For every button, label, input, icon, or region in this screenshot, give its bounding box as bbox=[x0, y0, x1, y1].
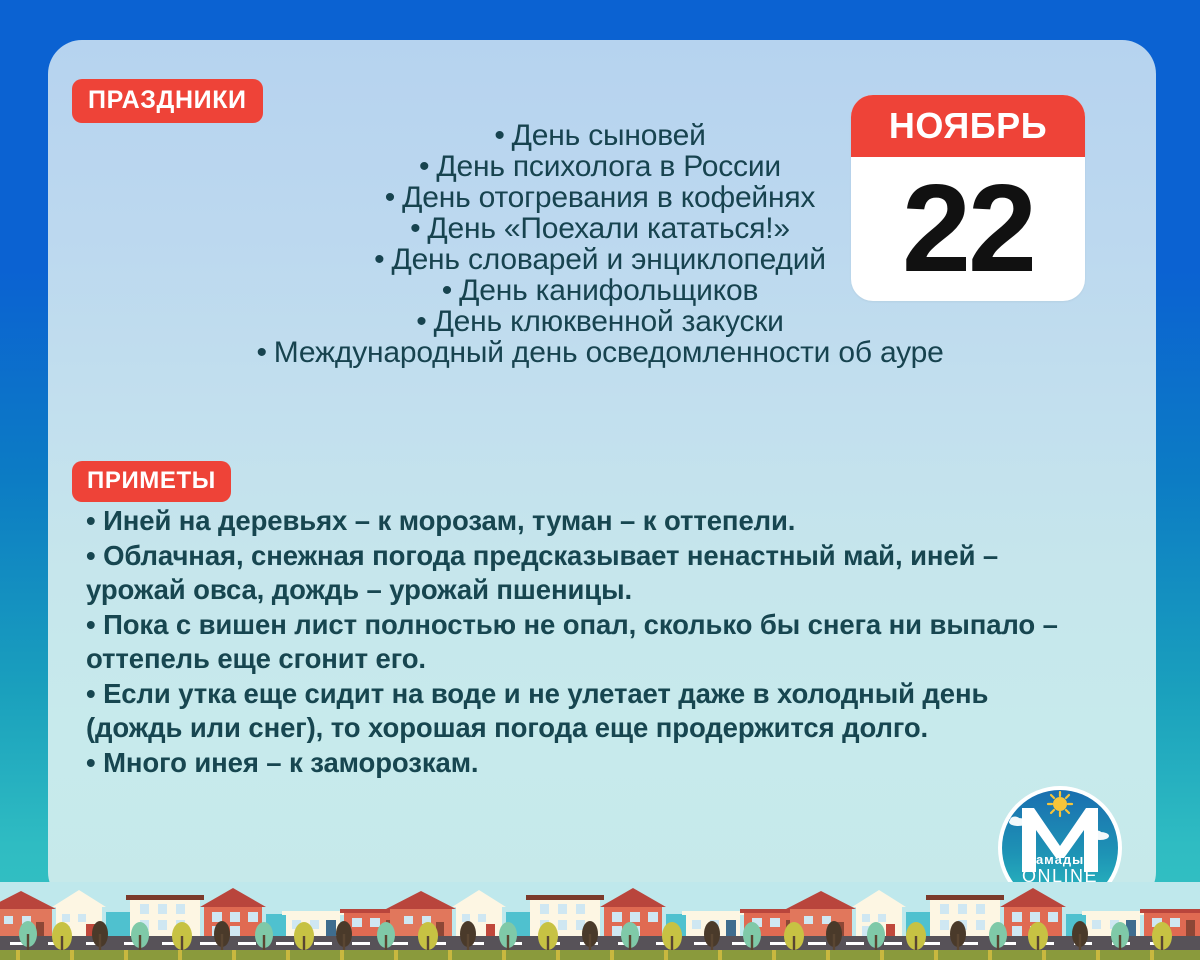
list-item: • Иней на деревьях – к морозам, туман – … bbox=[86, 504, 1078, 539]
bullet-icon: • bbox=[494, 120, 504, 151]
bullet-icon: • bbox=[419, 151, 429, 182]
omens-section-badge: ПРИМЕТЫ bbox=[72, 461, 231, 502]
list-item: • Много инея – к заморозкам. bbox=[86, 746, 1078, 781]
holiday-label: День словарей и энциклопедий bbox=[391, 243, 825, 276]
poster-root: ПРАЗДНИКИ •День сыновей •День психолога … bbox=[0, 0, 1200, 960]
list-item: •Международный день осведомленности об а… bbox=[0, 337, 1200, 368]
calendar-month-label: НОЯБРЬ bbox=[851, 95, 1085, 157]
holidays-section-badge: ПРАЗДНИКИ bbox=[72, 79, 263, 123]
holiday-label: День клюквенной закуски bbox=[434, 305, 784, 338]
calendar-day-number: 22 bbox=[851, 157, 1085, 301]
bullet-icon: • bbox=[374, 244, 384, 275]
bullet-icon: • bbox=[410, 213, 420, 244]
calendar-widget: НОЯБРЬ 22 bbox=[851, 95, 1085, 301]
bullet-icon: • bbox=[442, 275, 452, 306]
bullet-icon: • bbox=[385, 182, 395, 213]
bullet-icon: • bbox=[416, 306, 426, 337]
holiday-label: Международный день осведомленности об ау… bbox=[274, 336, 944, 369]
holiday-label: День сыновей bbox=[512, 119, 706, 152]
svg-text:Мамадыш: Мамадыш bbox=[1024, 852, 1096, 867]
bullet-icon: • bbox=[256, 337, 266, 368]
omens-list: • Иней на деревьях – к морозам, туман – … bbox=[86, 504, 1078, 780]
list-item: •День клюквенной закуски bbox=[0, 306, 1200, 337]
holiday-label: День отогревания в кофейнях bbox=[402, 181, 815, 214]
list-item: • Если утка еще сидит на воде и не улета… bbox=[86, 677, 1078, 746]
list-item: • Пока с вишен лист полностью не опал, с… bbox=[86, 608, 1078, 677]
list-item: • Облачная, снежная погода предсказывает… bbox=[86, 539, 1078, 608]
town-illustration bbox=[0, 882, 1200, 960]
holiday-label: День канифольщиков bbox=[459, 274, 758, 307]
holiday-label: День психолога в России bbox=[436, 150, 781, 183]
holiday-label: День «Поехали кататься!» bbox=[427, 212, 790, 245]
